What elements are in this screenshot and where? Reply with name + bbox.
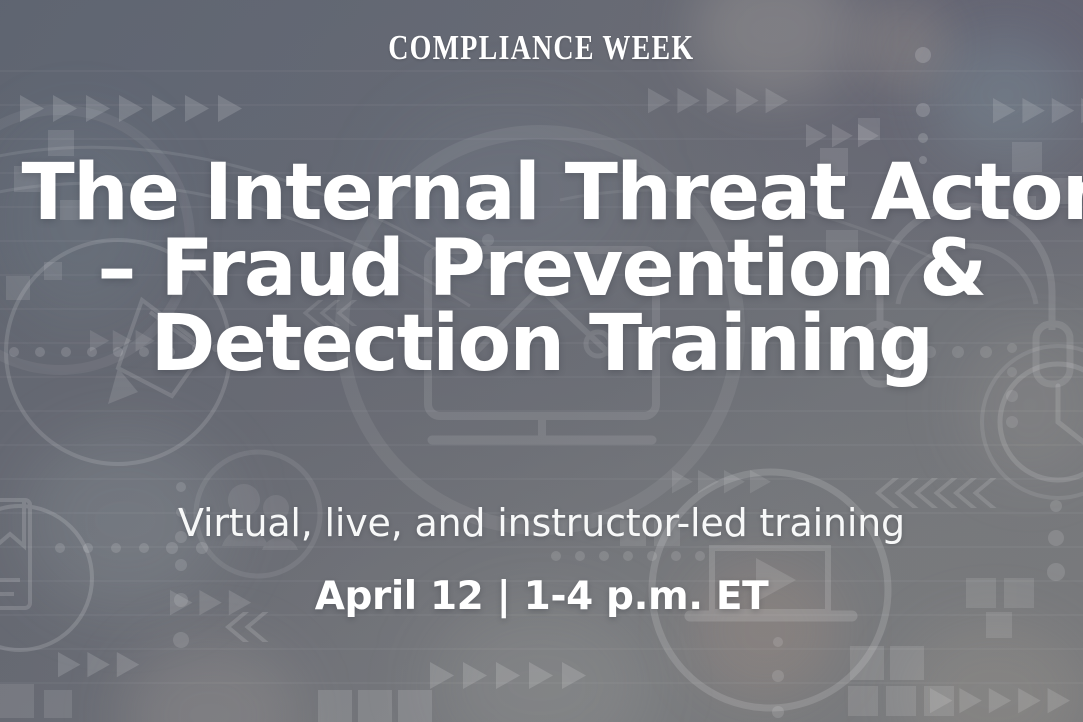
event-format-subtitle: Virtual, live, and instructor-led traini… bbox=[178, 501, 905, 545]
compliance-week-logo: COMPLIANCE WEEK bbox=[388, 28, 694, 68]
event-title-line-1: The Internal Threat Actor bbox=[22, 156, 1062, 232]
event-title-line-3: Detection Training bbox=[22, 307, 1062, 383]
event-title: The Internal Threat Actor – Fraud Preven… bbox=[22, 156, 1062, 383]
event-promo-banner: COMPLIANCE WEEK The Internal Threat Acto… bbox=[0, 0, 1083, 722]
event-datetime: April 12 | 1-4 p.m. ET bbox=[315, 574, 769, 619]
banner-content: COMPLIANCE WEEK The Internal Threat Acto… bbox=[0, 0, 1083, 722]
event-title-line-2: – Fraud Prevention & bbox=[22, 232, 1062, 308]
